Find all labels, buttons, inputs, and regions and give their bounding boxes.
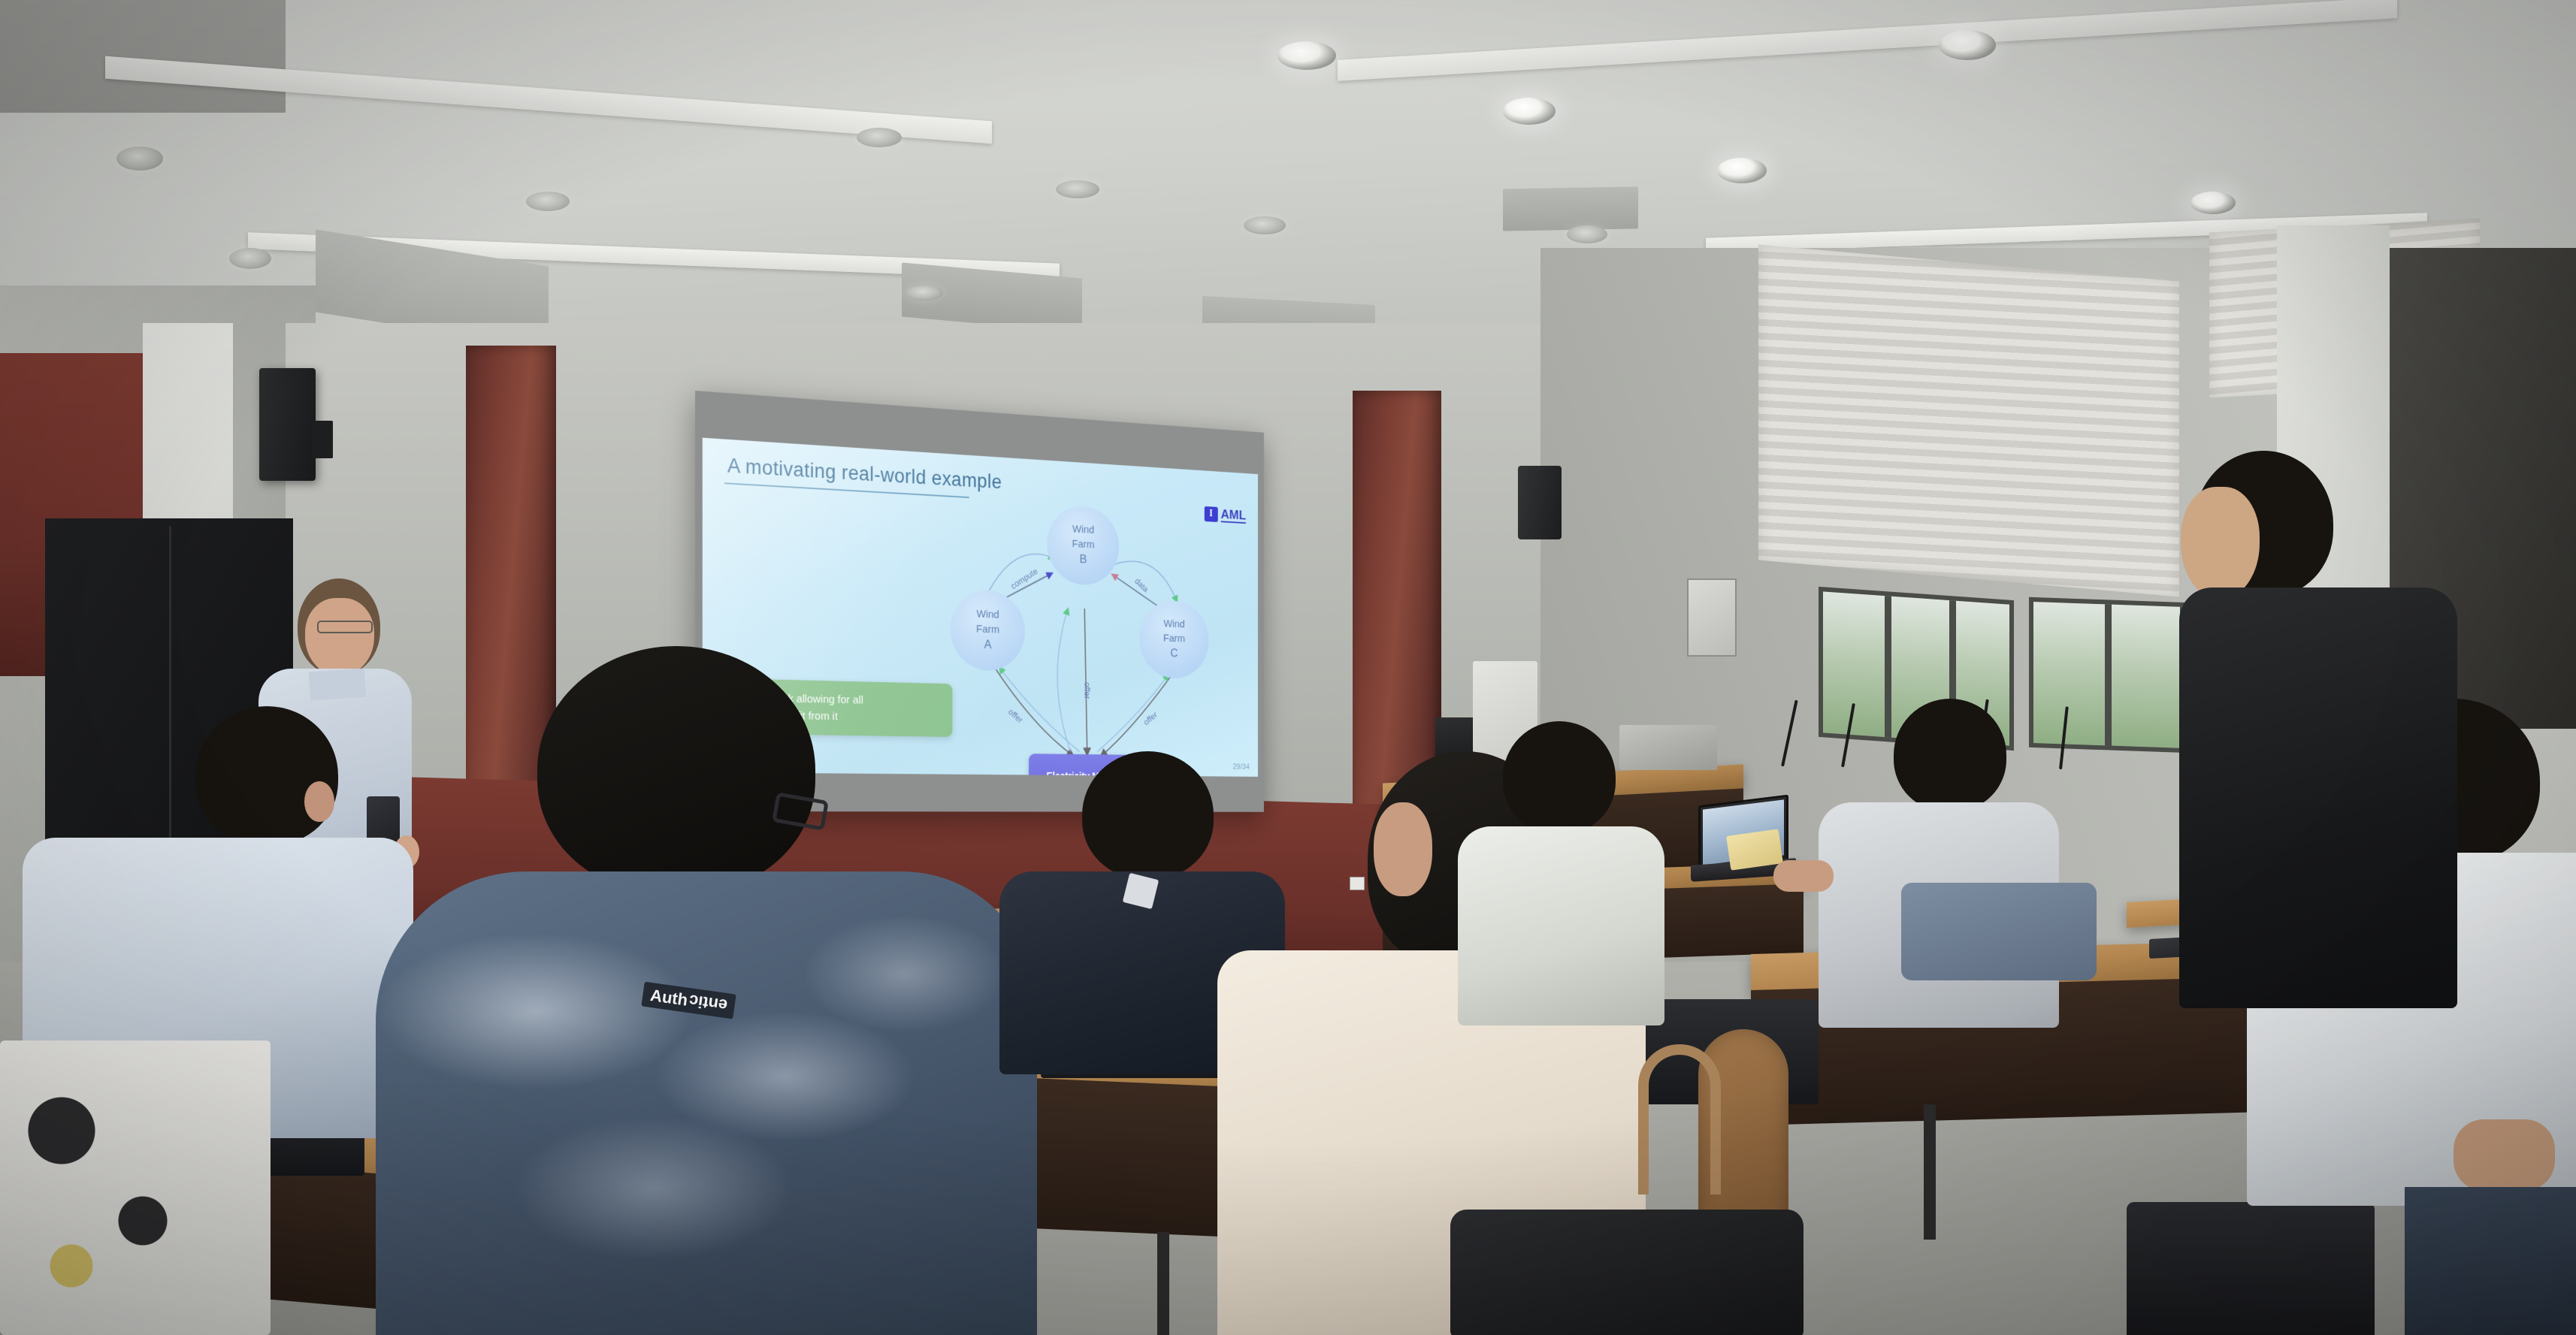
- standing-attendee-black-shirt: [2149, 451, 2465, 1007]
- yellow-folder: [1726, 829, 1783, 870]
- node-c-line3: C: [1170, 645, 1178, 661]
- node-b-line2: Farm: [1072, 537, 1095, 552]
- attendee-2-jacket: [376, 871, 1037, 1335]
- bag-on-chair: [1901, 883, 2097, 980]
- presenter-glasses-icon: [317, 621, 373, 633]
- desk-centre-leg: [1157, 1232, 1169, 1335]
- wall-control-panel[interactable]: [1687, 578, 1737, 657]
- node-a-line2: Farm: [976, 622, 999, 637]
- chair-handle-hook: [1638, 1044, 1721, 1195]
- slide-title: A motivating real-world example: [727, 455, 1002, 494]
- node-a-line1: Wind: [976, 608, 999, 623]
- wall-speaker-bracket: [312, 421, 333, 458]
- standing-attendee-shirt: [2179, 587, 2457, 1008]
- attendee-6-hand: [1773, 860, 1834, 892]
- attendee-5-head: [1503, 721, 1616, 834]
- standing-attendee-face: [2181, 487, 2260, 600]
- patch-line-2: entic: [688, 992, 728, 1014]
- attendee-2-head: [537, 646, 815, 894]
- node-c-line1: Wind: [1163, 618, 1184, 633]
- wall-speaker: [259, 368, 316, 481]
- seminar-room-photo: A motivating real-world example I AML: [0, 0, 2576, 1335]
- desk-right-front-leg: [1924, 1104, 1936, 1240]
- attendee-7-hands: [2454, 1119, 2555, 1191]
- attendee-1-ear: [304, 781, 334, 822]
- attendee-3-head: [1082, 751, 1214, 879]
- window-blind-upper: [1758, 245, 2179, 597]
- attendee-6-head: [1894, 699, 2006, 811]
- wall-speaker-right: [1518, 466, 1562, 539]
- attendee-light-shirt-rear: [1450, 721, 1668, 1022]
- attendee-grey-shirt-typing: [1819, 699, 2067, 1044]
- edge-label-offer-b: offer: [1083, 682, 1092, 699]
- attendee-4-face: [1374, 802, 1432, 896]
- presenter-face: [305, 598, 374, 676]
- patch-line-1: Auth: [649, 986, 689, 1010]
- presenter-collar: [309, 668, 366, 700]
- backpack-floor: [1450, 1210, 1804, 1335]
- node-b-line1: Wind: [1072, 523, 1094, 538]
- node-b-line3: B: [1080, 551, 1087, 568]
- attendee-5-shirt: [1458, 826, 1664, 1025]
- attendee-tie-dye-jacket: Authentic: [376, 646, 1052, 1335]
- attendee-7-trousers: [2405, 1187, 2576, 1335]
- tote-bag: [0, 1041, 271, 1335]
- node-c-line2: Farm: [1163, 631, 1185, 646]
- attendee-1-head: [195, 706, 338, 845]
